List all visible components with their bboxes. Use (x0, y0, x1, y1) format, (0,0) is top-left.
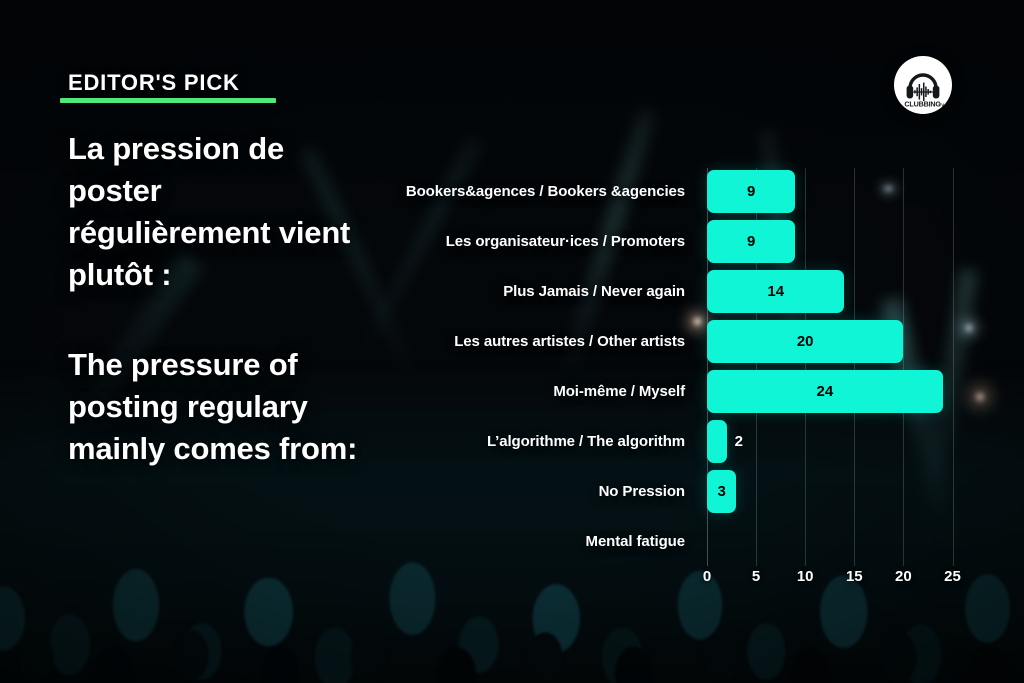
x-axis-tick-label: 15 (846, 568, 863, 585)
chart-row: Les autres artistes / Other artists20 (0, 320, 1024, 363)
chart-row: Les organisateur·ices / Promoters9 (0, 220, 1024, 263)
svg-text:TV: TV (939, 102, 945, 107)
bar-value-label: 20 (707, 320, 903, 363)
chart-row: L’algorithme / The algorithm2 (0, 420, 1024, 463)
x-axis-tick-label: 0 (703, 568, 711, 585)
chart-row: Bookers&agences / Bookers &agencies9 (0, 170, 1024, 213)
category-label: Les autres artistes / Other artists (454, 320, 694, 363)
bar-value-label: 9 (707, 220, 795, 263)
infographic-canvas: EDITOR'S PICK La pression de poster régu… (0, 0, 1024, 683)
bar-value-label: 2 (727, 420, 767, 463)
category-label: L’algorithme / The algorithm (487, 420, 694, 463)
chart-bar[interactable] (707, 420, 727, 463)
category-label: Moi-même / Myself (553, 370, 694, 413)
clubbing-tv-logo-icon[interactable]: CLUBBING TV (894, 56, 952, 114)
chart-row: Plus Jamais / Never again14 (0, 270, 1024, 313)
category-label: Plus Jamais / Never again (503, 270, 694, 313)
x-axis-tick-label: 25 (944, 568, 961, 585)
x-axis-tick-label: 10 (797, 568, 814, 585)
svg-text:CLUBBING: CLUBBING (904, 100, 941, 109)
chart-row: Moi-même / Myself24 (0, 370, 1024, 413)
bar-value-label: 9 (707, 170, 795, 213)
chart-row: Mental fatigue (0, 520, 1024, 563)
bar-value-label: 14 (707, 270, 844, 313)
category-label: No Pression (599, 470, 694, 513)
category-label: Mental fatigue (586, 520, 694, 563)
chart-row: No Pression3 (0, 470, 1024, 513)
x-axis-tick-label: 20 (895, 568, 912, 585)
x-axis-tick-label: 5 (752, 568, 760, 585)
bar-value-label: 3 (707, 470, 736, 513)
category-label: Bookers&agences / Bookers &agencies (406, 170, 694, 213)
category-label: Les organisateur·ices / Promoters (446, 220, 694, 263)
bar-value-label: 24 (707, 370, 943, 413)
horizontal-bar-chart: 0510152025Bookers&agences / Bookers &age… (0, 0, 1024, 683)
